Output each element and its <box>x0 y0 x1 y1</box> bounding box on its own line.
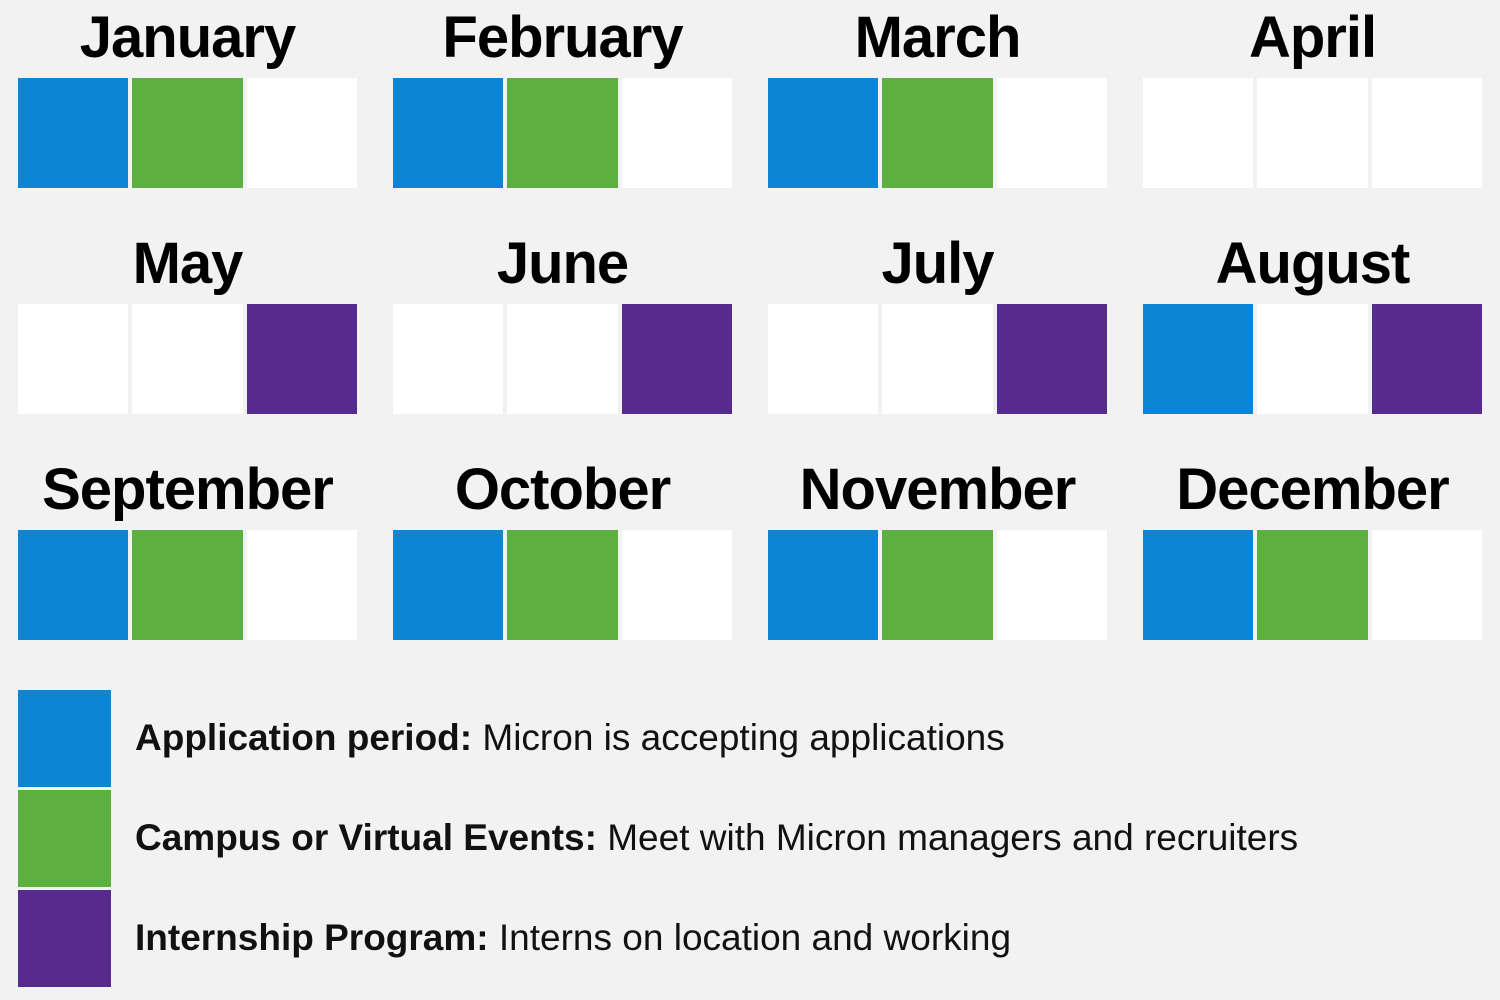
month-bar-segment-empty <box>247 530 357 640</box>
month-bar-segment-empty <box>507 304 617 414</box>
month-title: April <box>1143 0 1482 78</box>
month-calendar-grid: JanuaryFebruaryMarchAprilMayJuneJulyAugu… <box>0 0 1500 680</box>
month-bar-segment-green <box>882 78 992 188</box>
month-cell-march: March <box>750 0 1125 226</box>
month-bar-segment-green <box>882 530 992 640</box>
month-cell-august: August <box>1125 226 1500 452</box>
month-bar-segment-blue <box>393 530 503 640</box>
legend-label: Application period: <box>135 717 472 758</box>
month-title: February <box>393 0 732 78</box>
month-bar-segment-purple <box>1372 304 1482 414</box>
month-cell-december: December <box>1125 452 1500 678</box>
legend-description: Meet with Micron managers and recruiters <box>597 817 1298 858</box>
month-bar-segment-green <box>507 78 617 188</box>
month-bar-track <box>18 78 357 188</box>
month-bar-track <box>393 530 732 640</box>
legend-item: Application period: Micron is accepting … <box>0 688 1500 788</box>
month-bar-segment-green <box>507 530 617 640</box>
legend-description: Micron is accepting applications <box>472 717 1005 758</box>
month-bar-segment-empty <box>997 78 1107 188</box>
legend-label: Campus or Virtual Events: <box>135 817 597 858</box>
month-bar-track <box>768 304 1107 414</box>
month-bar-segment-blue <box>18 78 128 188</box>
month-cell-january: January <box>0 0 375 226</box>
month-bar-segment-empty <box>768 304 878 414</box>
month-title: November <box>768 452 1107 530</box>
month-bar-segment-empty <box>1257 78 1367 188</box>
month-bar-segment-blue <box>393 78 503 188</box>
month-bar-segment-purple <box>622 304 732 414</box>
legend-swatch-green <box>18 790 111 887</box>
month-bar-segment-empty <box>393 304 503 414</box>
month-bar-track <box>768 530 1107 640</box>
month-cell-april: April <box>1125 0 1500 226</box>
month-cell-september: September <box>0 452 375 678</box>
month-bar-segment-green <box>1257 530 1367 640</box>
month-bar-segment-blue <box>1143 304 1253 414</box>
month-bar-segment-empty <box>622 78 732 188</box>
month-title: October <box>393 452 732 530</box>
month-bar-segment-blue <box>1143 530 1253 640</box>
month-bar-track <box>393 304 732 414</box>
month-bar-segment-purple <box>247 304 357 414</box>
month-title: March <box>768 0 1107 78</box>
legend-label: Internship Program: <box>135 917 489 958</box>
legend: Application period: Micron is accepting … <box>0 688 1500 1000</box>
month-bar-track <box>18 304 357 414</box>
legend-item: Internship Program: Interns on location … <box>0 888 1500 988</box>
legend-item: Campus or Virtual Events: Meet with Micr… <box>0 788 1500 888</box>
month-row: JanuaryFebruaryMarchApril <box>0 0 1500 226</box>
month-title: January <box>18 0 357 78</box>
month-title: August <box>1143 226 1482 304</box>
legend-description: Interns on location and working <box>489 917 1011 958</box>
month-row: MayJuneJulyAugust <box>0 226 1500 452</box>
legend-swatch-blue <box>18 690 111 787</box>
month-bar-segment-empty <box>622 530 732 640</box>
legend-text: Internship Program: Interns on location … <box>135 916 1011 960</box>
month-cell-november: November <box>750 452 1125 678</box>
month-bar-track <box>1143 304 1482 414</box>
month-bar-segment-blue <box>768 530 878 640</box>
month-row: SeptemberOctoberNovemberDecember <box>0 452 1500 678</box>
month-cell-may: May <box>0 226 375 452</box>
legend-text: Application period: Micron is accepting … <box>135 716 1005 760</box>
month-bar-track <box>393 78 732 188</box>
month-bar-segment-blue <box>18 530 128 640</box>
month-bar-segment-empty <box>882 304 992 414</box>
month-title: December <box>1143 452 1482 530</box>
month-bar-segment-green <box>132 530 242 640</box>
month-cell-june: June <box>375 226 750 452</box>
month-bar-segment-empty <box>1372 530 1482 640</box>
month-bar-segment-green <box>132 78 242 188</box>
month-title: September <box>18 452 357 530</box>
month-bar-track <box>1143 530 1482 640</box>
month-cell-july: July <box>750 226 1125 452</box>
month-bar-segment-empty <box>997 530 1107 640</box>
month-bar-segment-empty <box>1372 78 1482 188</box>
month-bar-segment-empty <box>1143 78 1253 188</box>
month-bar-track <box>1143 78 1482 188</box>
month-bar-segment-blue <box>768 78 878 188</box>
month-title: June <box>393 226 732 304</box>
month-bar-segment-empty <box>1257 304 1367 414</box>
legend-swatch-purple <box>18 890 111 987</box>
month-bar-track <box>768 78 1107 188</box>
month-cell-february: February <box>375 0 750 226</box>
month-title: May <box>18 226 357 304</box>
month-bar-segment-purple <box>997 304 1107 414</box>
month-bar-segment-empty <box>132 304 242 414</box>
month-bar-track <box>18 530 357 640</box>
month-cell-october: October <box>375 452 750 678</box>
month-title: July <box>768 226 1107 304</box>
legend-text: Campus or Virtual Events: Meet with Micr… <box>135 816 1298 860</box>
month-bar-segment-empty <box>18 304 128 414</box>
month-bar-segment-empty <box>247 78 357 188</box>
